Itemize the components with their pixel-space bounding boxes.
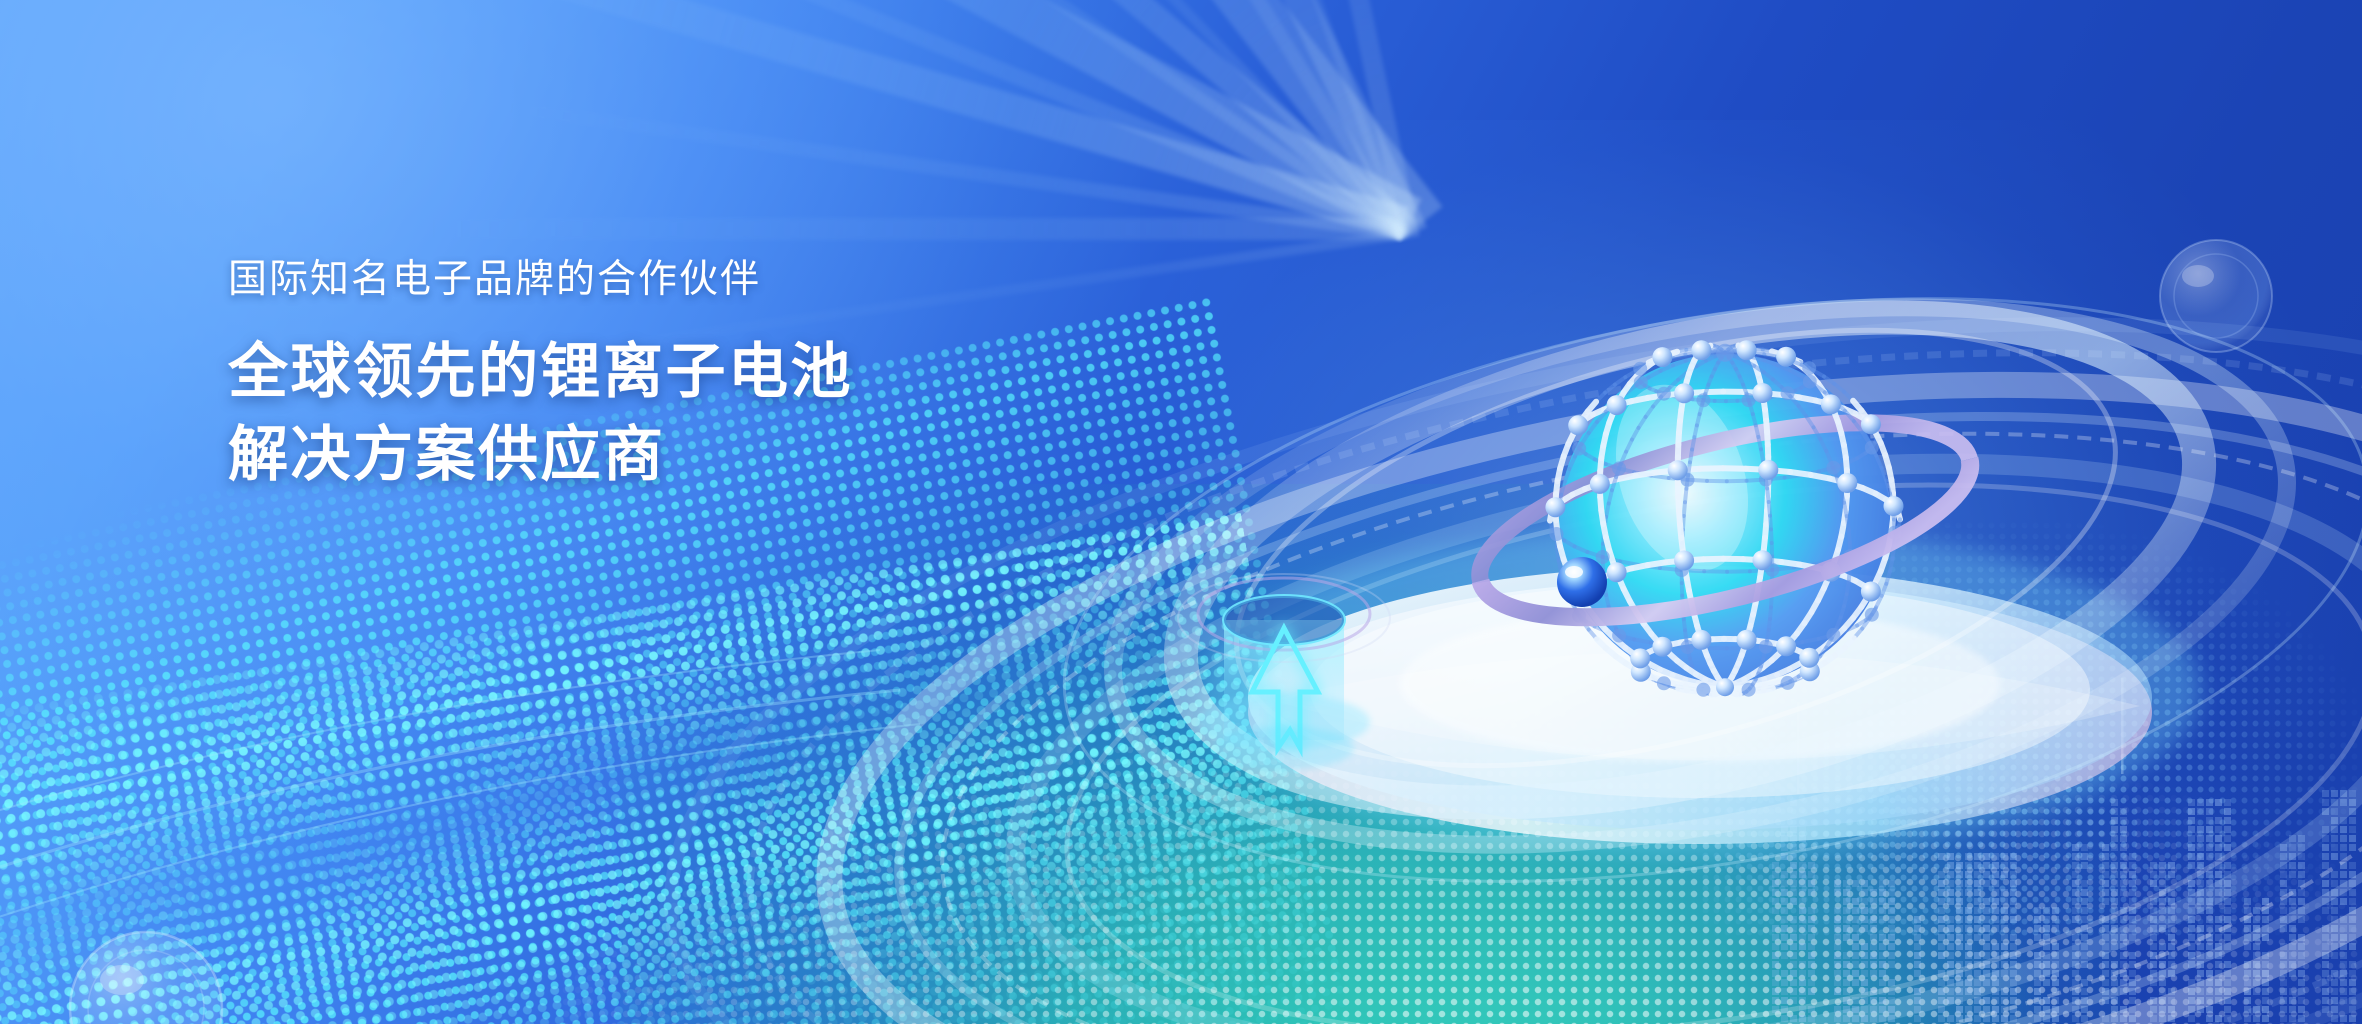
- globe-node: [1568, 415, 1588, 435]
- globe-node: [1674, 551, 1694, 571]
- globe-node: [1668, 460, 1688, 480]
- orbit-ring-bead: [1557, 557, 1607, 607]
- globe-edge: [1844, 503, 1847, 516]
- globe-node: [1826, 628, 1840, 642]
- globe-node: [1545, 497, 1565, 517]
- globe-node: [1634, 375, 1648, 389]
- globe-node: [1776, 347, 1796, 367]
- tech-illustration: [0, 0, 2362, 1024]
- globe-node: [1759, 640, 1773, 654]
- globe-node: [1691, 340, 1711, 360]
- globe-node: [1753, 550, 1773, 570]
- globe-edge: [1770, 516, 1771, 530]
- globe-node: [1612, 461, 1626, 475]
- globe-node: [1753, 383, 1773, 403]
- globe-edge: [1636, 473, 1656, 476]
- globe-node: [1742, 683, 1756, 697]
- globe-node: [1716, 678, 1734, 696]
- globe-node: [1630, 648, 1650, 668]
- globe-node: [1716, 344, 1734, 362]
- globe-node: [1696, 393, 1710, 407]
- globe-node: [1652, 637, 1672, 657]
- banner-text-block: 国际知名电子品牌的合作伙伴 全球领先的锂离子电池 解决方案供应商: [228, 256, 853, 496]
- globe-node: [1696, 683, 1710, 697]
- globe-edge: [1769, 502, 1770, 516]
- globe-edge: [1771, 529, 1772, 543]
- globe-node: [1758, 460, 1778, 480]
- globe-node: [1865, 441, 1879, 455]
- banner-subtitle: 国际知名电子品牌的合作伙伴: [228, 256, 853, 305]
- globe-node: [1633, 362, 1647, 376]
- globe-node: [1826, 461, 1840, 475]
- globe-node: [1572, 442, 1586, 456]
- bubble-top-right: [2160, 240, 2272, 352]
- globe-edge: [1790, 472, 1811, 475]
- globe-edge: [1849, 530, 1850, 543]
- globe-node: [1596, 550, 1610, 564]
- globe-node: [1657, 387, 1671, 401]
- globe-edge: [1700, 468, 1723, 469]
- globe-edge: [1847, 516, 1849, 529]
- globe-edge: [1606, 504, 1609, 517]
- globe-node: [1607, 562, 1627, 582]
- globe-edge: [1727, 481, 1747, 482]
- globe-node: [1865, 608, 1879, 622]
- globe-node: [1837, 473, 1857, 493]
- globe-node: [1803, 375, 1817, 389]
- banner-headline: 全球领先的锂离子电池 解决方案供应商: [228, 331, 853, 497]
- headline-line-2: 解决方案供应商: [228, 414, 853, 497]
- globe-node: [1884, 496, 1904, 516]
- globe-edge: [1767, 489, 1769, 503]
- globe-node: [1657, 676, 1671, 690]
- globe-node: [1550, 527, 1564, 541]
- globe-edge: [1727, 571, 1750, 572]
- globe-edge: [1684, 502, 1685, 516]
- globe-node: [1590, 474, 1610, 494]
- globe-node: [1737, 630, 1757, 650]
- globe-node: [1612, 629, 1626, 643]
- globe-node: [1861, 414, 1881, 434]
- globe-node: [1691, 630, 1711, 650]
- globe-node: [1802, 361, 1816, 375]
- headline-line-1: 全球领先的锂离子电池: [228, 331, 853, 414]
- globe-node: [1776, 636, 1796, 656]
- globe-node: [1737, 340, 1757, 360]
- globe-node: [1781, 676, 1795, 690]
- globe-node: [1674, 383, 1694, 403]
- globe-node: [1652, 347, 1672, 367]
- globe-edge: [1685, 489, 1686, 503]
- globe-node: [1781, 386, 1795, 400]
- hero-banner: 国际知名电子品牌的合作伙伴 全球领先的锂离子电池 解决方案供应商: [0, 0, 2362, 1024]
- globe-node: [1607, 395, 1627, 415]
- globe-node: [1821, 394, 1841, 414]
- globe-node: [1799, 648, 1819, 668]
- bubble-bottom-left: [70, 932, 222, 1024]
- globe-node: [1861, 582, 1881, 602]
